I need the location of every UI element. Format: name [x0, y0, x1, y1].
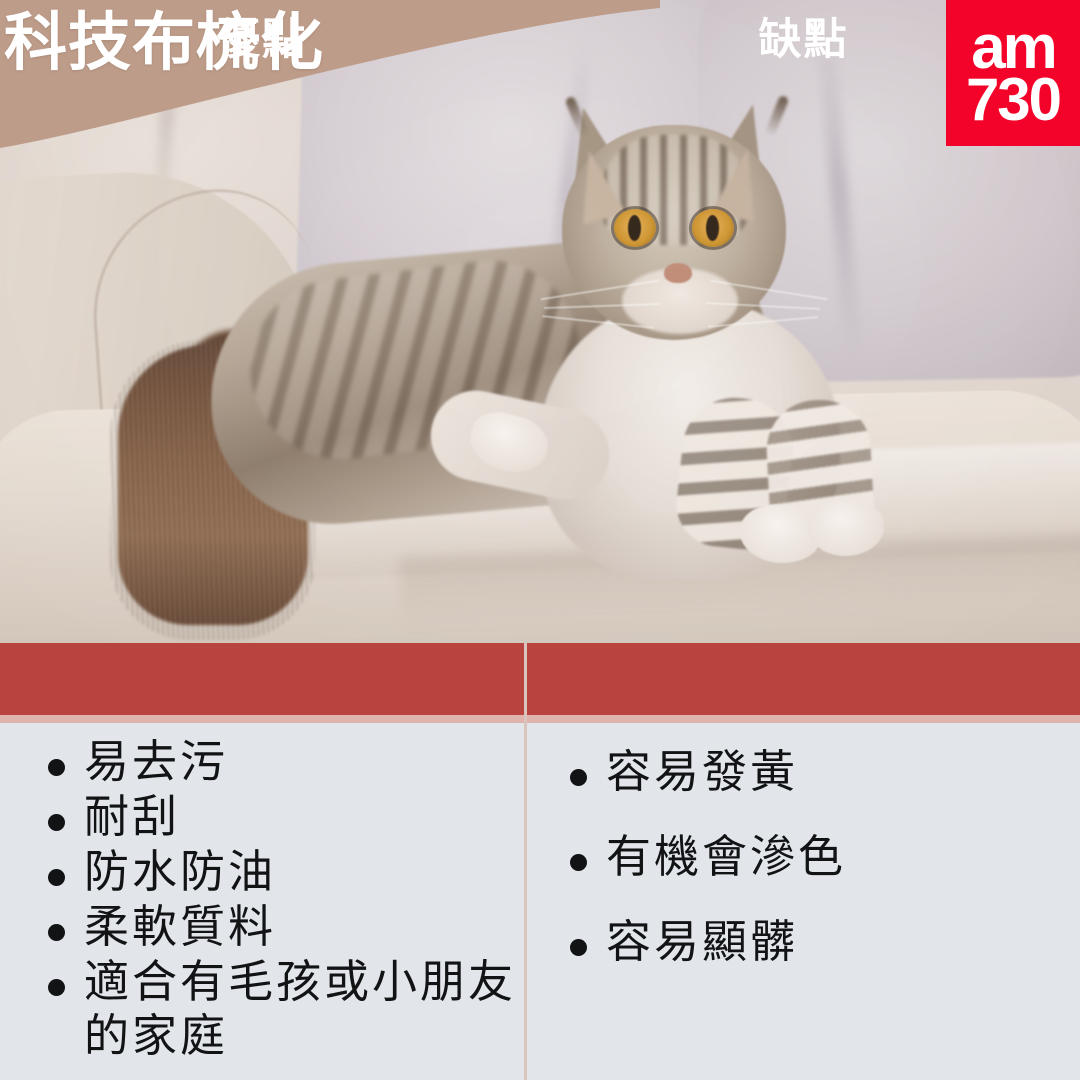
list-item: 防水防油: [26, 845, 516, 900]
pros-list: 易去污 耐刮 防水防油 柔軟質料 適合有毛孩或小朋友的家庭: [26, 735, 516, 1064]
logo-text-730: 730: [966, 74, 1060, 126]
column-header-pros: 優點: [0, 0, 524, 72]
list-item: 有機會滲色: [548, 830, 1068, 885]
cons-list: 容易發黃 有機會滲色 容易顯髒: [548, 745, 1068, 1000]
list-item: 適合有毛孩或小朋友的家庭: [26, 955, 516, 1065]
cat-pupil-left: [628, 215, 641, 241]
cat-pupil-right: [706, 215, 719, 241]
infographic-canvas: 科技布梳化 am 730 優點 缺點 易去污 耐刮 防水防油 柔軟質料 適合有毛…: [0, 0, 1080, 1080]
list-item: 柔軟質料: [26, 900, 516, 955]
table-header-underline: [0, 715, 1080, 723]
list-item: 容易顯髒: [548, 915, 1068, 970]
comparison-table-body: 易去污 耐刮 防水防油 柔軟質料 適合有毛孩或小朋友的家庭 容易發黃 有機會滲色…: [0, 723, 1080, 1080]
column-header-cons: 缺點: [527, 0, 1080, 72]
list-item: 易去污: [26, 735, 516, 790]
list-item: 耐刮: [26, 790, 516, 845]
comparison-table-header: [0, 643, 1080, 715]
list-item: 容易發黃: [548, 745, 1068, 800]
cat-whiskers: [540, 275, 820, 345]
column-divider: [524, 643, 527, 1080]
cat-paw-right-outer: [807, 499, 885, 558]
